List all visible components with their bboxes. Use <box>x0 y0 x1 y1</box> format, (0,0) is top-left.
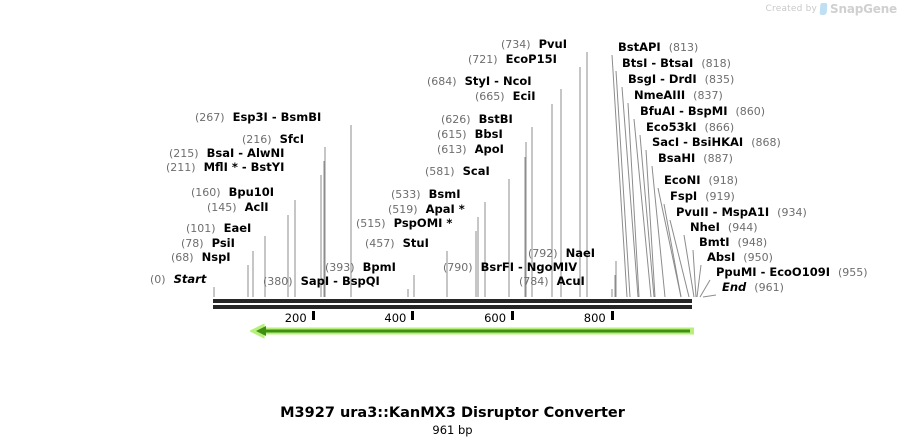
restriction-site-label[interactable]: NheI (944) <box>690 221 758 234</box>
site-enzyme-name: EciI <box>513 89 536 103</box>
restriction-site-label[interactable]: End (961) <box>722 281 784 294</box>
site-leader-line <box>697 265 701 297</box>
site-enzyme-name: AcuI <box>557 274 585 288</box>
restriction-site-label[interactable]: (78) PsiI <box>181 237 235 250</box>
site-position: (837) <box>693 89 723 102</box>
ruler-baseline <box>213 299 692 303</box>
restriction-site-label[interactable]: (216) SfcI <box>242 133 304 146</box>
site-leader-line <box>634 119 651 297</box>
restriction-site-label[interactable]: (457) StuI <box>365 237 429 250</box>
site-position: (860) <box>736 105 766 118</box>
site-enzyme-name: PsiI <box>212 236 235 250</box>
site-enzyme-name: BfuAI - BspMI <box>640 104 727 118</box>
site-position: (101) <box>186 222 216 235</box>
site-position: (160) <box>191 186 221 199</box>
site-enzyme-name: PspOMI * <box>394 216 453 230</box>
site-enzyme-name: ApoI <box>475 142 504 156</box>
site-position: (267) <box>195 111 225 124</box>
site-position: (734) <box>501 38 531 51</box>
site-enzyme-name: NspI <box>202 250 231 264</box>
restriction-site-label[interactable]: (160) Bpu10I <box>191 186 274 199</box>
restriction-site-label[interactable]: (734) PvuI <box>501 38 567 51</box>
restriction-site-label[interactable]: (393) BpmI <box>325 261 396 274</box>
site-enzyme-name: BsgI - DrdI <box>628 72 697 86</box>
site-enzyme-name: AclI <box>245 200 269 214</box>
restriction-site-label[interactable]: (784) AcuI <box>519 275 585 288</box>
restriction-site-label[interactable]: (721) EcoP15I <box>468 53 557 66</box>
restriction-site-label[interactable]: (101) EaeI <box>186 222 251 235</box>
site-enzyme-name: BsrFI - NgoMIV <box>481 260 578 274</box>
site-enzyme-name: PvuII - MspA1I <box>676 205 769 219</box>
site-leader-line <box>622 87 638 297</box>
site-enzyme-name: NheI <box>690 220 720 234</box>
site-leader-line <box>612 55 627 297</box>
site-enzyme-name: Eco53kI <box>646 120 697 134</box>
site-enzyme-name: BpmI <box>363 260 396 274</box>
restriction-site-label[interactable]: BtsI - BtsaI (818) <box>622 57 731 70</box>
site-enzyme-name: EcoNI <box>664 173 700 187</box>
restriction-site-label[interactable]: (665) EciI <box>475 90 536 103</box>
restriction-site-label[interactable]: (684) StyI - NcoI <box>427 75 532 88</box>
site-position: (721) <box>468 53 498 66</box>
restriction-site-label[interactable]: (380) SapI - BspQI <box>263 275 380 288</box>
site-leader-line <box>693 250 696 297</box>
plasmid-linear-map: Created by SnapGene (0) Start(68) NspI(7… <box>0 0 905 445</box>
site-enzyme-name: SfcI <box>280 132 304 146</box>
restriction-site-label[interactable]: (68) NspI <box>171 251 231 264</box>
site-enzyme-name: AbsI <box>707 250 735 264</box>
site-enzyme-name: BbsI <box>475 127 503 141</box>
site-position: (961) <box>754 281 784 294</box>
site-leader-line <box>700 280 710 297</box>
restriction-site-label[interactable]: BstAPI (813) <box>618 41 698 54</box>
restriction-site-label[interactable]: (211) MflI * - BstYI <box>166 161 284 174</box>
site-position: (868) <box>751 136 781 149</box>
restriction-site-label[interactable]: SacI - BsiHKAI (868) <box>652 136 781 149</box>
restriction-site-label[interactable]: (519) ApaI * <box>388 203 465 216</box>
restriction-site-label[interactable]: (792) NaeI <box>528 247 595 260</box>
site-enzyme-name: BsaI - AlwNI <box>207 146 285 160</box>
site-leader-line <box>684 235 694 297</box>
site-position: (665) <box>475 90 505 103</box>
site-position: (215) <box>169 147 199 160</box>
restriction-site-label[interactable]: AbsI (950) <box>707 251 773 264</box>
site-enzyme-name: ScaI <box>463 164 490 178</box>
restriction-site-label[interactable]: (215) BsaI - AlwNI <box>169 147 284 160</box>
sequence-length: 961 bp <box>0 423 905 437</box>
site-position: (944) <box>728 221 758 234</box>
site-enzyme-name: MflI * - BstYI <box>204 160 285 174</box>
restriction-site-label[interactable]: (613) ApoI <box>437 143 504 156</box>
site-position: (380) <box>263 275 293 288</box>
site-enzyme-name: BsaHI <box>658 151 695 165</box>
site-enzyme-name: SacI - BsiHKAI <box>652 135 743 149</box>
site-enzyme-name: NmeAIII <box>634 88 685 102</box>
ruler-backbone <box>213 305 692 309</box>
site-enzyme-name: ApaI * <box>426 202 465 216</box>
site-position: (955) <box>838 266 868 279</box>
site-position: (393) <box>325 261 355 274</box>
site-enzyme-name: StuI <box>403 236 429 250</box>
restriction-site-label[interactable]: (790) BsrFI - NgoMIV <box>443 261 577 274</box>
restriction-site-label[interactable]: (615) BbsI <box>437 128 503 141</box>
leader-lines <box>0 0 905 445</box>
page-title: M3927 ura3::KanMX3 Disruptor Converter <box>0 405 905 421</box>
sequence-direction-arrow <box>250 322 694 344</box>
site-position: (790) <box>443 261 473 274</box>
restriction-site-label[interactable]: PpuMI - EcoO109I (955) <box>716 266 868 279</box>
ruler-tick-mark <box>611 311 614 320</box>
site-enzyme-name: PpuMI - EcoO109I <box>716 265 830 279</box>
site-position: (919) <box>705 190 735 203</box>
site-enzyme-name: BstAPI <box>618 40 661 54</box>
site-position: (887) <box>703 152 733 165</box>
restriction-site-label[interactable]: (581) ScaI <box>425 165 490 178</box>
site-enzyme-name: Esp3I - BsmBI <box>233 110 322 124</box>
site-enzyme-name: BstBI <box>479 112 513 126</box>
site-position: (457) <box>365 237 395 250</box>
restriction-site-label[interactable]: PvuII - MspA1I (934) <box>676 206 807 219</box>
site-enzyme-name: SapI - BspQI <box>301 274 380 288</box>
site-position: (78) <box>181 237 204 250</box>
site-enzyme-name: End <box>722 280 746 294</box>
site-position: (934) <box>777 206 807 219</box>
restriction-site-label[interactable]: (145) AclI <box>207 201 269 214</box>
site-position: (515) <box>356 217 386 230</box>
site-position: (684) <box>427 75 457 88</box>
site-enzyme-name: BmtI <box>699 235 730 249</box>
restriction-site-label[interactable]: BmtI (948) <box>699 236 767 249</box>
restriction-site-label[interactable]: (267) Esp3I - BsmBI <box>195 111 321 124</box>
site-position: (866) <box>705 121 735 134</box>
site-position: (835) <box>705 73 735 86</box>
site-enzyme-name: EaeI <box>224 221 252 235</box>
site-position: (792) <box>528 247 558 260</box>
site-enzyme-name: StyI - NcoI <box>465 74 532 88</box>
site-position: (948) <box>738 236 768 249</box>
site-enzyme-name: NaeI <box>566 246 595 260</box>
site-position: (626) <box>441 113 471 126</box>
ruler-tick-mark <box>511 311 514 320</box>
restriction-site-label[interactable]: NmeAIII (837) <box>634 89 723 102</box>
site-position: (0) <box>150 273 166 286</box>
restriction-site-label[interactable]: FspI (919) <box>670 190 735 203</box>
restriction-site-label[interactable]: (515) PspOMI * <box>356 217 452 230</box>
restriction-site-label[interactable]: BsaHI (887) <box>658 152 733 165</box>
site-enzyme-name: BtsI - BtsaI <box>622 56 693 70</box>
site-position: (950) <box>743 251 773 264</box>
restriction-site-label[interactable]: (626) BstBI <box>441 113 513 126</box>
ruler-tick-mark <box>411 311 414 320</box>
site-enzyme-name: PvuI <box>539 37 567 51</box>
site-position: (818) <box>701 57 731 70</box>
site-position: (216) <box>242 133 272 146</box>
site-enzyme-name: Start <box>174 272 207 286</box>
site-enzyme-name: FspI <box>670 189 697 203</box>
site-position: (519) <box>388 203 418 216</box>
restriction-site-label[interactable]: (0) Start <box>150 273 206 286</box>
restriction-site-label[interactable]: BfuAI - BspMI (860) <box>640 105 765 118</box>
site-position: (784) <box>519 275 549 288</box>
site-position: (813) <box>669 41 699 54</box>
restriction-site-label[interactable]: (533) BsmI <box>391 188 460 201</box>
restriction-site-label[interactable]: BsgI - DrdI (835) <box>628 73 734 86</box>
site-leader-line <box>628 103 639 297</box>
site-position: (581) <box>425 165 455 178</box>
restriction-site-label[interactable]: Eco53kI (866) <box>646 121 734 134</box>
site-position: (615) <box>437 128 467 141</box>
site-position: (68) <box>171 251 194 264</box>
site-position: (533) <box>391 188 421 201</box>
site-position: (145) <box>207 201 237 214</box>
ruler-tick-mark <box>312 311 315 320</box>
site-enzyme-name: EcoP15I <box>506 52 557 66</box>
site-position: (613) <box>437 143 467 156</box>
site-enzyme-name: Bpu10I <box>229 185 274 199</box>
site-position: (211) <box>166 161 196 174</box>
site-leader-line <box>703 295 716 297</box>
restriction-site-label[interactable]: EcoNI (918) <box>664 174 738 187</box>
site-position: (918) <box>709 174 739 187</box>
site-enzyme-name: BsmI <box>429 187 461 201</box>
